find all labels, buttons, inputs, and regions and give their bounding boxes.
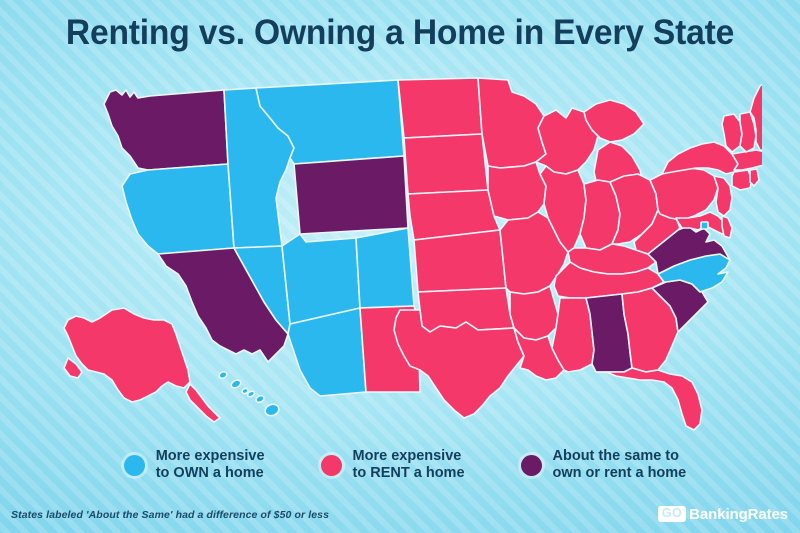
- legend-label-rent: More expensive to RENT a home: [353, 448, 465, 482]
- state-ND[interactable]: North Dakota: [398, 78, 482, 138]
- state-NJ[interactable]: New Jersey: [714, 176, 732, 216]
- state-OR[interactable]: Oregon: [122, 164, 234, 254]
- legend: More expensive to OWN a home More expens…: [0, 448, 800, 496]
- page-title: Renting vs. Owning a Home in Every State: [16, 12, 784, 54]
- legend-label-own: More expensive to OWN a home: [156, 448, 265, 482]
- state-HI[interactable]: Hawaii: [218, 370, 280, 417]
- state-MN[interactable]: Minnesota: [478, 78, 546, 168]
- state-MS[interactable]: Mississippi: [552, 298, 594, 372]
- logo-wordmark: BankingRates: [689, 507, 788, 522]
- legend-item-own[interactable]: More expensive to OWN a home: [124, 448, 265, 482]
- legend-label-same: About the same to own or rent a home: [553, 448, 687, 482]
- infographic-root: Renting vs. Owning a Home in Every State…: [0, 0, 800, 533]
- legend-dot-pink-icon: [321, 455, 342, 476]
- us-choropleth-map: Washington Oregon Idaho Montana Wyoming …: [38, 70, 762, 440]
- state-CO[interactable]: Colorado: [356, 228, 414, 308]
- logo-go-mark: GO: [658, 506, 686, 522]
- map-svg: Washington Oregon Idaho Montana Wyoming …: [38, 70, 762, 440]
- state-WA[interactable]: Washington: [104, 90, 228, 170]
- states-layer: Washington Oregon Idaho Montana Wyoming …: [64, 78, 762, 430]
- state-DC[interactable]: District of Columbia: [701, 222, 708, 229]
- state-KS[interactable]: Kansas: [414, 230, 506, 292]
- footnote: States labeled 'About the Same' had a di…: [11, 509, 329, 521]
- state-AZ[interactable]: Arizona: [288, 308, 366, 396]
- legend-dot-blue-icon: [124, 455, 145, 476]
- state-FL[interactable]: Florida: [596, 368, 702, 430]
- state-IA[interactable]: Iowa: [488, 162, 546, 220]
- state-AK[interactable]: Alaska: [64, 308, 220, 422]
- state-WY[interactable]: Wyoming: [294, 156, 408, 234]
- gobankingrates-logo[interactable]: GO BankingRates: [658, 506, 788, 522]
- state-MA[interactable]: Massachusetts: [732, 150, 762, 170]
- legend-item-rent[interactable]: More expensive to RENT a home: [321, 448, 465, 482]
- state-RI[interactable]: Rhode Island: [750, 169, 759, 186]
- state-DE[interactable]: Delaware: [722, 216, 732, 238]
- state-CT[interactable]: Connecticut: [732, 170, 752, 190]
- legend-item-same[interactable]: About the same to own or rent a home: [521, 448, 687, 482]
- state-SD[interactable]: South Dakota: [404, 134, 488, 194]
- legend-dot-purple-icon: [521, 455, 542, 476]
